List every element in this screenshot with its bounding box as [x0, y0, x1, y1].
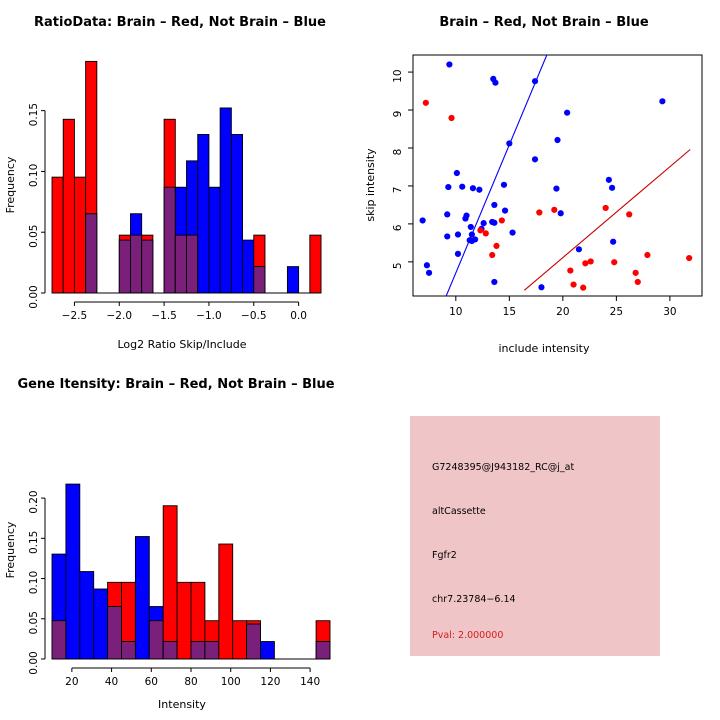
histogram-bar-overlap: [191, 642, 205, 659]
gene-histogram-plot-area: 0.000.050.100.150.2020406080100120140: [28, 484, 330, 688]
x-tick-label: −2.0: [107, 310, 133, 322]
x-tick-label: 140: [300, 676, 320, 688]
scatter-point: [633, 270, 639, 276]
scatter-point: [626, 211, 632, 217]
panel-gene-intensity-histogram: Gene Itensity: Brain – Red, Not Brain – …: [0, 360, 360, 720]
scatter-point: [446, 61, 452, 67]
histogram-bar-overlap: [175, 235, 186, 293]
histogram-bar-overlap: [149, 621, 163, 659]
scatter-point: [553, 185, 559, 191]
regression-lines: [446, 55, 690, 296]
histogram-bar-overlap: [254, 267, 265, 293]
pval-text: Pval: 2.000000: [432, 630, 503, 641]
x-tick-label: 60: [145, 676, 158, 688]
y-tick-label: 8: [392, 149, 404, 156]
scatter-point: [491, 202, 497, 208]
scatter-point: [459, 184, 465, 190]
scatter-point: [444, 211, 450, 217]
scatter-point: [554, 137, 560, 143]
histogram-bar: [63, 119, 74, 293]
ratio-histogram-title: RatioData: Brain – Red, Not Brain – Blue: [34, 15, 326, 30]
y-tick-label: 0.15: [28, 531, 40, 554]
scatter-point: [635, 279, 641, 285]
x-tick-label: 40: [105, 676, 118, 688]
figure-canvas: RatioData: Brain – Red, Not Brain – Blue…: [0, 0, 720, 720]
scatter-point: [444, 233, 450, 239]
histogram-bar: [310, 235, 321, 293]
y-tick-label: 0.00: [28, 651, 40, 674]
scatter-point: [536, 209, 542, 215]
histogram-bar: [231, 134, 242, 293]
gene-histogram-title: Gene Itensity: Brain – Red, Not Brain – …: [17, 377, 334, 392]
y-tick-label: 10: [392, 69, 404, 82]
histogram-bar: [243, 240, 254, 293]
scatter-point: [588, 258, 594, 264]
scatter-point: [603, 205, 609, 211]
scatter-point: [455, 251, 461, 257]
scatter-point: [611, 259, 617, 265]
y-tick-label: 0.05: [28, 611, 40, 634]
gene-histogram-svg: Gene Itensity: Brain – Red, Not Brain – …: [0, 360, 360, 720]
histogram-bar-overlap: [187, 235, 198, 293]
scatter-point: [470, 185, 476, 191]
gene-info-box: G7248395@J943182_RC@j_at altCassette Fgf…: [410, 416, 660, 656]
scatter-points: [420, 61, 693, 290]
scatter-point: [582, 260, 588, 266]
x-tick-label: −1.0: [196, 310, 222, 322]
panel-intensity-scatter: Brain – Red, Not Brain – Blue skip inten…: [360, 0, 720, 360]
scatter-point: [606, 177, 612, 183]
scatter-point: [424, 262, 430, 268]
locus-text: chr7.23784−6.14: [432, 594, 516, 605]
histogram-bar: [74, 177, 85, 293]
x-tick-label: 30: [663, 306, 676, 318]
histogram-bar: [52, 177, 63, 293]
histogram-bar: [66, 484, 80, 659]
ratio-histogram-plot-area: 0.000.050.100.15−2.5−2.0−1.5−1.0−0.50.0: [28, 61, 321, 322]
scatter-point: [644, 252, 650, 258]
event-type-text: altCassette: [432, 506, 486, 517]
y-tick-label: 0.15: [28, 103, 40, 126]
scatter-point: [489, 252, 495, 258]
scatter-point: [448, 115, 454, 121]
scatter-point: [580, 285, 586, 291]
y-tick-label: 6: [392, 224, 404, 231]
histogram-bar: [261, 642, 275, 659]
histogram-bar-overlap: [108, 607, 122, 659]
scatter-point: [558, 210, 564, 216]
y-tick-label: 0.10: [28, 164, 40, 187]
x-tick-label: −2.5: [62, 310, 88, 322]
x-tick-label: 80: [184, 676, 197, 688]
scatter-point: [501, 182, 507, 188]
scatter-point: [420, 217, 426, 223]
scatter-point: [493, 243, 499, 249]
histogram-bar-overlap: [52, 621, 66, 659]
x-tick-label: −1.5: [151, 310, 177, 322]
scatter-point: [538, 284, 544, 290]
x-tick-label: 25: [610, 306, 623, 318]
scatter-point: [477, 227, 483, 233]
ratio-histogram-svg: RatioData: Brain – Red, Not Brain – Blue…: [0, 0, 360, 360]
scatter-ylabel: skip intensity: [364, 148, 377, 222]
ratio-histogram-xlabel: Log2 Ratio Skip/Include: [117, 338, 246, 351]
scatter-point: [476, 187, 482, 193]
scatter-point: [462, 215, 468, 221]
histogram-bar: [198, 134, 209, 293]
scatter-point: [492, 80, 498, 86]
gene-symbol-text: Fgfr2: [432, 550, 457, 561]
scatter-point: [481, 220, 487, 226]
histogram-bar: [135, 537, 149, 659]
histogram-bar: [163, 506, 177, 659]
scatter-point: [423, 100, 429, 106]
intensity-scatter-svg: Brain – Red, Not Brain – Blue skip inten…: [360, 0, 720, 360]
histogram-bar: [287, 267, 298, 293]
histogram-bar-overlap: [122, 642, 136, 659]
histogram-bar-overlap: [316, 642, 330, 659]
scatter-point: [472, 236, 478, 242]
scatter-point: [659, 98, 665, 104]
y-tick-label: 0.10: [28, 571, 40, 594]
x-tick-label: 120: [260, 676, 280, 688]
scatter-point: [509, 230, 515, 236]
x-tick-label: 20: [65, 676, 78, 688]
panel-gene-info: G7248395@J943182_RC@j_at altCassette Fgf…: [360, 360, 720, 720]
scatter-point: [491, 279, 497, 285]
panel-ratio-histogram: RatioData: Brain – Red, Not Brain – Blue…: [0, 0, 360, 360]
x-tick-label: 10: [449, 306, 462, 318]
scatter-point: [499, 217, 505, 223]
x-tick-label: 100: [221, 676, 241, 688]
x-tick-label: 15: [503, 306, 516, 318]
histogram-bar: [80, 572, 94, 659]
histogram-bar-overlap: [119, 240, 130, 293]
histogram-bar-overlap: [142, 240, 153, 293]
histogram-bar-overlap: [163, 642, 177, 659]
scatter-point: [609, 185, 615, 191]
x-tick-label: 20: [556, 306, 569, 318]
blue-regression: [446, 55, 547, 296]
y-tick-label: 0.00: [28, 285, 40, 308]
histogram-bar-overlap: [86, 214, 97, 293]
scatter-point: [506, 140, 512, 146]
gene-histogram-xlabel: Intensity: [158, 698, 206, 711]
scatter-point: [570, 282, 576, 288]
histogram-bar: [177, 582, 191, 659]
scatter-point: [532, 78, 538, 84]
scatter-point: [686, 255, 692, 261]
scatter-point: [564, 110, 570, 116]
scatter-point: [502, 208, 508, 214]
histogram-bar: [233, 621, 247, 659]
y-tick-label: 7: [392, 187, 404, 194]
x-tick-label: 0.0: [290, 310, 307, 322]
scatter-point: [532, 156, 538, 162]
scatter-point: [576, 246, 582, 252]
histogram-bar-overlap: [247, 624, 261, 659]
scatter-point: [445, 184, 451, 190]
ratio-histogram-ylabel: Frequency: [4, 156, 17, 213]
scatter-point: [468, 224, 474, 230]
scatter-point: [426, 270, 432, 276]
scatter-point: [551, 207, 557, 213]
histogram-bar: [219, 544, 233, 659]
histogram-bar-overlap: [205, 642, 219, 659]
y-tick-label: 5: [392, 262, 404, 269]
histogram-bar: [220, 108, 231, 293]
histogram-bar-overlap: [130, 235, 141, 293]
scatter-xlabel: include intensity: [498, 342, 590, 355]
scatter-point: [483, 230, 489, 236]
y-tick-label: 0.20: [28, 490, 40, 513]
scatter-point: [454, 170, 460, 176]
probe-id-text: G7248395@J943182_RC@j_at: [432, 462, 574, 473]
scatter-plot-area: 56789101015202530: [392, 55, 702, 318]
scatter-point: [455, 231, 461, 237]
scatter-title: Brain – Red, Not Brain – Blue: [439, 15, 648, 30]
histogram-bar: [94, 589, 108, 659]
gene-histogram-ylabel: Frequency: [4, 521, 17, 578]
red-regression: [524, 150, 690, 291]
y-tick-label: 9: [392, 111, 404, 118]
histogram-bar: [209, 187, 220, 293]
scatter-point: [491, 220, 497, 226]
histogram-bar-overlap: [164, 187, 175, 293]
y-tick-label: 0.05: [28, 225, 40, 248]
x-tick-label: −0.5: [241, 310, 267, 322]
scatter-point: [610, 239, 616, 245]
scatter-point: [567, 267, 573, 273]
